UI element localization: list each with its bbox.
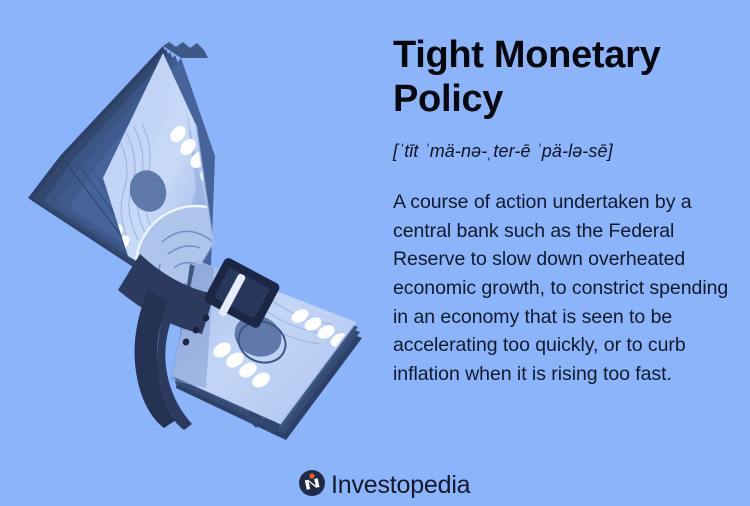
definition-text-column: Tight Monetary Policy [ˈtīt ˈmä-nə-ˌter-… xyxy=(393,33,738,389)
definition-card: Tight Monetary Policy [ˈtīt ˈmä-nə-ˌter-… xyxy=(0,0,750,506)
page-title: Tight Monetary Policy xyxy=(393,33,738,121)
definition-body: A course of action undertaken by a centr… xyxy=(393,188,738,389)
investopedia-logo-icon xyxy=(299,470,325,501)
investopedia-wordmark: Investopedia xyxy=(331,473,470,498)
pronunciation-guide: [ˈtīt ˈmä-nə-ˌter-ē ˈpä-lə-sē] xyxy=(393,141,738,162)
illustration-money-stack-with-belt xyxy=(0,28,380,458)
investopedia-logo[interactable]: Investopedia xyxy=(299,470,470,501)
